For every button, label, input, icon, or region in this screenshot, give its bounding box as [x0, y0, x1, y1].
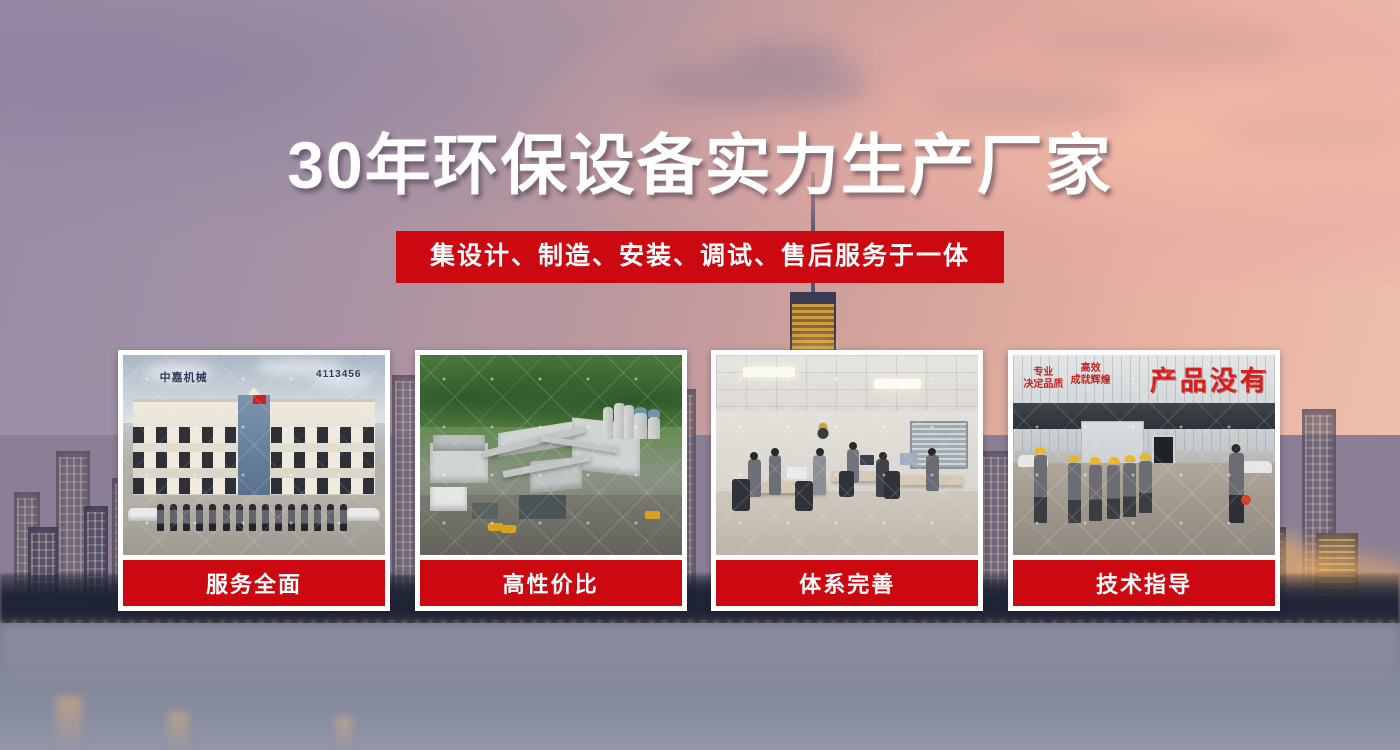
factory-small-slogan-left: 专业决定品质 [1023, 367, 1063, 390]
feature-card-row: 中嘉机械 4113456 [118, 350, 1280, 611]
cloud-shape [140, 22, 440, 60]
subtitle-row: 集设计、制造、安装、调试、售后服务于一体 [0, 231, 1400, 283]
water-reflection [56, 696, 82, 750]
banner-headline: 30年环保设备实力生产厂家 [0, 131, 1400, 200]
water-sheen [0, 623, 1400, 693]
card-caption: 技术指导 [1013, 560, 1275, 606]
building-sign-text: 中嘉机械 [160, 369, 208, 385]
feature-card[interactable]: 产品没有 专业决定品质 高效成就辉煌 [1008, 350, 1280, 611]
cloud-shape [728, 39, 848, 75]
card-caption: 服务全面 [123, 560, 385, 606]
building-phone-text: 4113456 [316, 369, 361, 380]
cloud-shape [1036, 26, 1296, 66]
banner-subtitle: 集设计、制造、安装、调试、售后服务于一体 [396, 231, 1004, 283]
factory-slogan-text: 产品没有 [1150, 359, 1270, 398]
card-photo-factory-workers: 产品没有 专业决定品质 高效成就辉煌 [1013, 355, 1275, 555]
card-photo-industrial-plant [420, 355, 682, 555]
card-caption: 高性价比 [420, 560, 682, 606]
water-reflection [336, 717, 352, 750]
card-photo-headquarters: 中嘉机械 4113456 [123, 355, 385, 555]
river-water [0, 623, 1400, 750]
factory-small-slogan-right: 高效成就辉煌 [1071, 363, 1111, 386]
feature-card[interactable]: 中嘉机械 4113456 [118, 350, 390, 611]
wall-logo-icon [811, 421, 835, 441]
promotional-banner: 30年环保设备实力生产厂家 集设计、制造、安装、调试、售后服务于一体 [0, 0, 1400, 750]
feature-card[interactable]: 高性价比 [415, 350, 687, 611]
water-reflection [168, 712, 188, 750]
feature-card[interactable]: 体系完善 [711, 350, 983, 611]
cloud-shape [924, 87, 1134, 121]
card-photo-office-interior [716, 355, 978, 555]
card-caption: 体系完善 [716, 560, 978, 606]
